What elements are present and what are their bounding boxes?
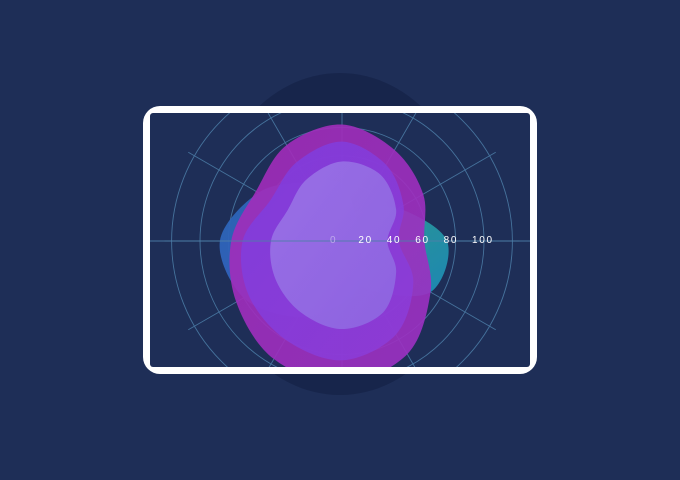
radial-tick-40: 40	[387, 235, 402, 246]
polar-plot-surface: 020406080100	[150, 113, 530, 367]
screenshot-root: 020406080100	[0, 0, 680, 480]
polar-chart-svg: 020406080100	[150, 113, 530, 367]
radial-tick-60: 60	[415, 235, 430, 246]
radial-tick-0: 0	[330, 235, 337, 246]
chart-card: 020406080100	[143, 106, 537, 374]
radial-tick-80: 80	[444, 235, 459, 246]
radial-tick-100: 100	[472, 235, 494, 246]
radial-tick-20: 20	[358, 235, 373, 246]
